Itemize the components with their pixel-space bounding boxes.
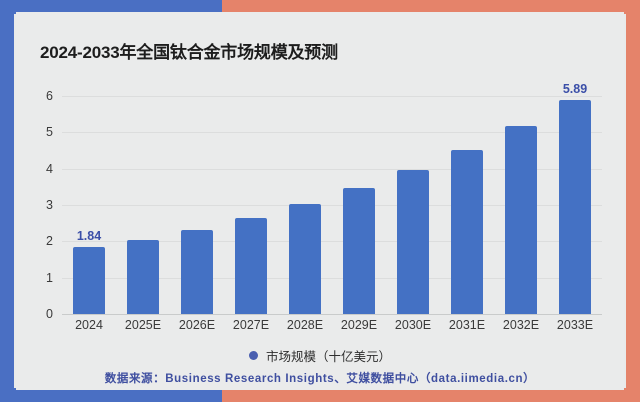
- plot-area: 0123456 1.845.89: [62, 96, 602, 314]
- bar[interactable]: [343, 188, 375, 314]
- bar-slot[interactable]: [494, 96, 548, 314]
- bar[interactable]: [289, 204, 321, 314]
- bar[interactable]: [451, 150, 483, 314]
- x-axis-line: [62, 314, 602, 315]
- data-source-note: 数据来源：Business Research Insights、艾媒数据中心（d…: [16, 370, 624, 386]
- x-axis-tick-label: 2029E: [332, 318, 386, 332]
- bar[interactable]: [505, 126, 537, 314]
- bar-slot[interactable]: [170, 96, 224, 314]
- y-axis-tick-label: 4: [46, 162, 53, 175]
- frame-right-bar: [626, 0, 640, 402]
- frame-bottom-blue-bar: [0, 388, 222, 402]
- y-axis-tick-label: 0: [46, 308, 53, 321]
- bar-slot[interactable]: [116, 96, 170, 314]
- x-axis-tick-label: 2032E: [494, 318, 548, 332]
- frame-left-bar: [0, 0, 14, 402]
- x-axis-tick-label: 2031E: [440, 318, 494, 332]
- bar[interactable]: [397, 170, 429, 314]
- x-axis-tick-label: 2027E: [224, 318, 278, 332]
- y-axis-tick-label: 2: [46, 235, 53, 248]
- circle-marker-icon: [249, 351, 258, 360]
- y-axis-tick-label: 5: [46, 126, 53, 139]
- x-axis-tick-label: 2024: [62, 318, 116, 332]
- bar[interactable]: [235, 218, 267, 314]
- bar[interactable]: 1.84: [73, 247, 105, 314]
- y-axis-tick-label: 6: [46, 90, 53, 103]
- y-axis-tick-label: 1: [46, 271, 53, 284]
- bar-slot[interactable]: [386, 96, 440, 314]
- y-axis-tick-label: 3: [46, 199, 53, 212]
- bar[interactable]: [181, 230, 213, 314]
- bar-slot[interactable]: [332, 96, 386, 314]
- bar[interactable]: [127, 240, 159, 314]
- x-axis-tick-label: 2028E: [278, 318, 332, 332]
- x-axis-tick-label: 2026E: [170, 318, 224, 332]
- chart-card: 2024-2033年全国钛合金市场规模及预测 0123456 1.845.89 …: [16, 12, 624, 390]
- bar-slot[interactable]: 1.84: [62, 96, 116, 314]
- bar-group: 1.845.89: [62, 96, 602, 314]
- x-axis-labels: 20242025E2026E2027E2028E2029E2030E2031E2…: [62, 318, 602, 332]
- legend-item-label: 市场规模（十亿美元）: [266, 346, 391, 365]
- bar-slot[interactable]: [278, 96, 332, 314]
- chart-legend: 市场规模（十亿美元）: [16, 346, 624, 365]
- bar-value-label: 1.84: [77, 229, 101, 243]
- bar-value-label: 5.89: [563, 82, 587, 96]
- page-title: 2024-2033年全国钛合金市场规模及预测: [40, 38, 338, 63]
- frame-bottom-salmon-bar: [222, 388, 640, 402]
- x-axis-tick-label: 2033E: [548, 318, 602, 332]
- bar[interactable]: 5.89: [559, 100, 591, 314]
- bar-slot[interactable]: [224, 96, 278, 314]
- x-axis-tick-label: 2030E: [386, 318, 440, 332]
- bar-slot[interactable]: [440, 96, 494, 314]
- bar-slot[interactable]: 5.89: [548, 96, 602, 314]
- x-axis-tick-label: 2025E: [116, 318, 170, 332]
